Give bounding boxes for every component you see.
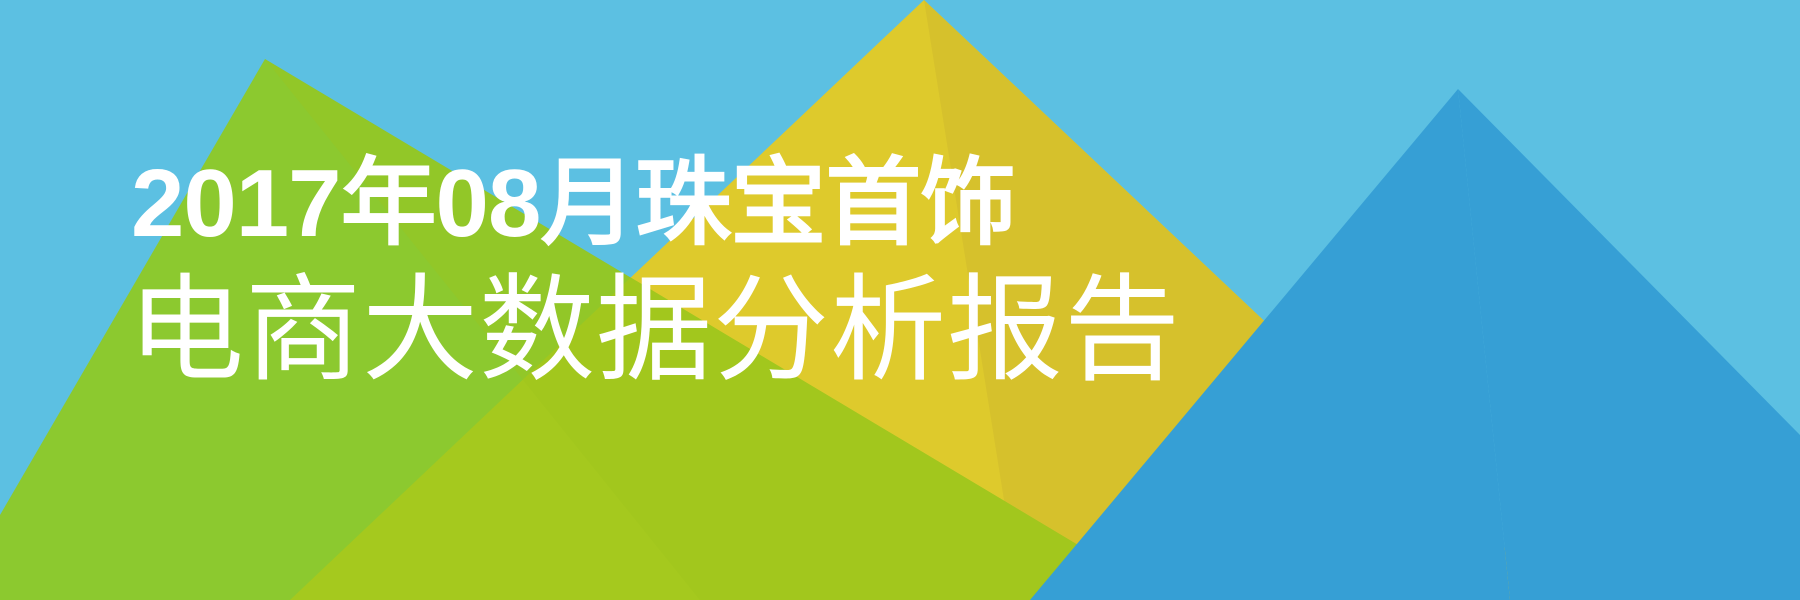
- geometric-background: [0, 0, 1800, 600]
- report-cover-banner: 2017年08月珠宝首饰 电商大数据分析报告: [0, 0, 1800, 600]
